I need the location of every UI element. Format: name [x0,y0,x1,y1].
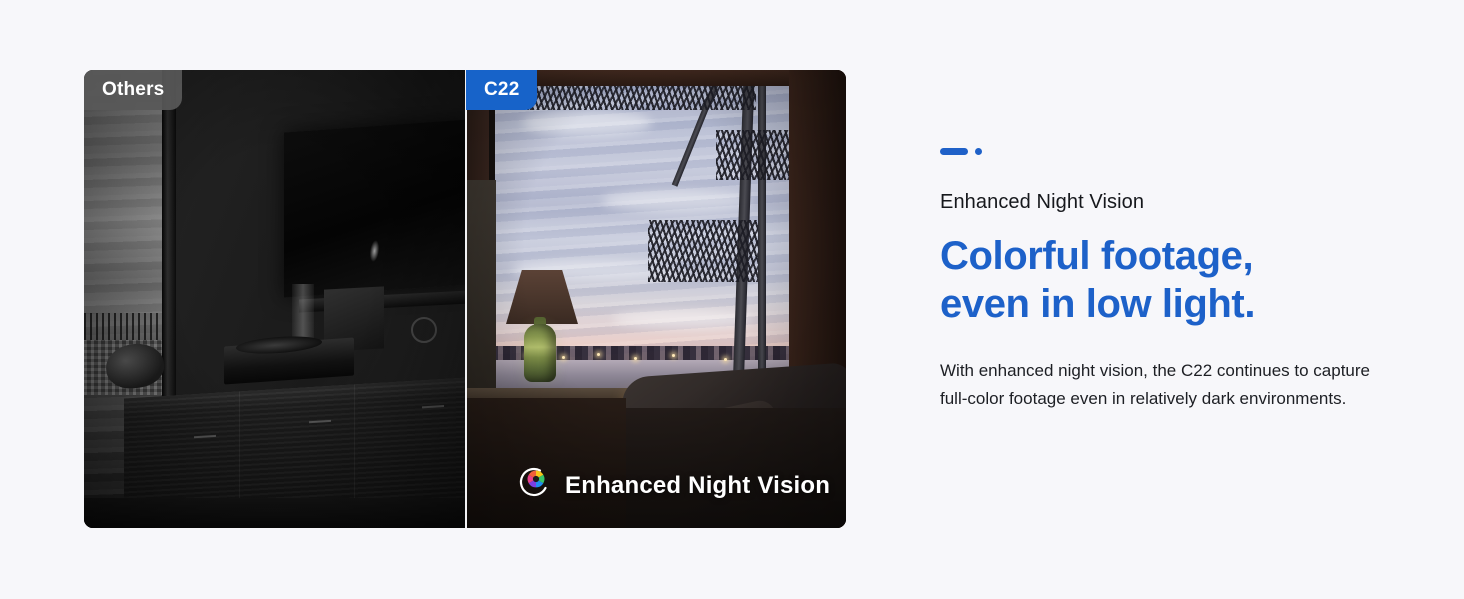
copy-block: Enhanced Night Vision Colorful footage, … [940,148,1400,412]
night-vision-comparison-card: Others [84,70,846,528]
comparison-divider [465,70,467,528]
color-aperture-icon [516,466,550,505]
dot-indicator [975,148,982,155]
badge-others: Others [84,70,182,110]
color-vignette [466,70,846,528]
badge-c22: C22 [466,70,537,110]
indicator-row [940,148,1400,155]
watermark-label: Enhanced Night Vision [565,472,830,500]
gray-vignette [84,70,465,528]
body-paragraph: With enhanced night vision, the C22 cont… [940,357,1380,412]
badge-others-label: Others [102,79,164,101]
headline-line-1: Colorful footage, [940,233,1400,281]
comparison-pane-c22: C22 Enhanced N [466,70,846,528]
headline-line-2: even in low light. [940,281,1400,329]
watermark: Enhanced Night Vision [516,466,830,505]
eyebrow-text: Enhanced Night Vision [940,191,1400,214]
page-title: Colorful footage, even in low light. [940,233,1400,328]
color-night-scene [466,70,846,528]
grayscale-night-scene [84,70,465,528]
badge-c22-label: C22 [484,79,519,101]
comparison-pane-others: Others [84,70,465,528]
dash-indicator [940,148,968,155]
